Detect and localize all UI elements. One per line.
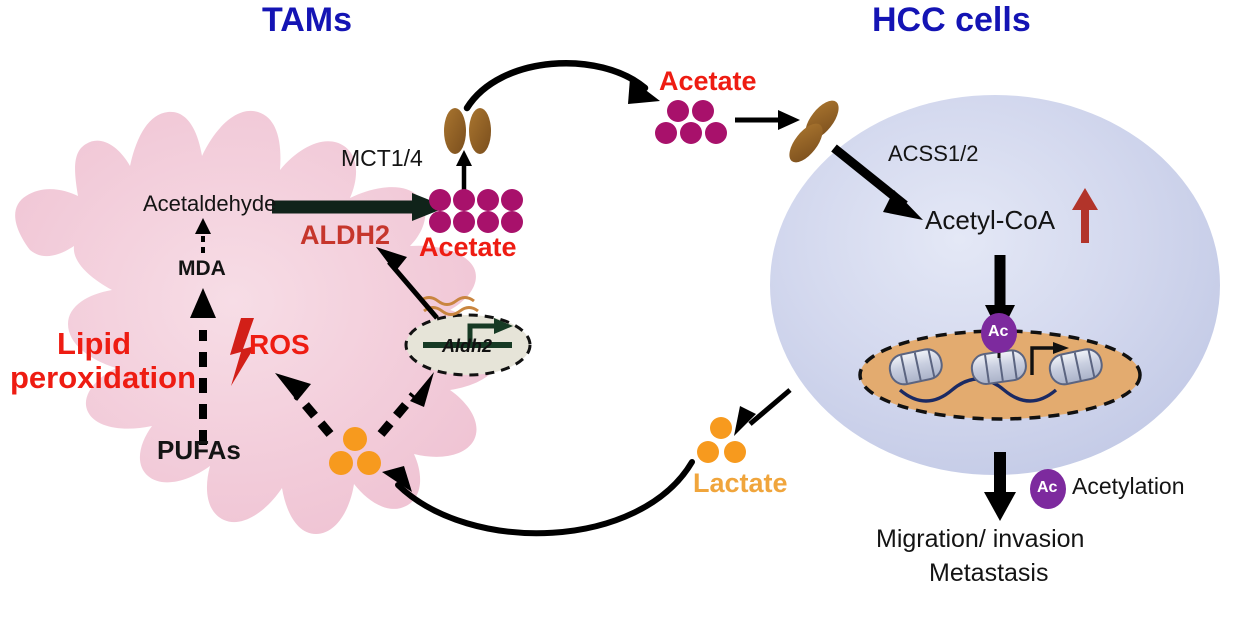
label-mct1-4: MCT1/4 — [341, 147, 423, 170]
pathway-figure: TAMs HCC cells Acetaldehyde ALDH2 MCT1/4… — [0, 0, 1250, 639]
label-acss1-2: ACSS1/2 — [888, 143, 979, 165]
acetate-dots-intracellular — [429, 189, 523, 233]
label-aldh2-enzyme: ALDH2 — [300, 222, 390, 249]
label-pufas: PUFAs — [157, 437, 241, 463]
acetate-dots-extracellular — [655, 100, 727, 144]
label-acetyl-coa: Acetyl-CoA — [925, 207, 1055, 233]
acetate-uptake-arrow — [735, 110, 800, 130]
acetate-export-curved-arrow — [467, 63, 660, 108]
hcc-to-lactate-arrow — [734, 390, 790, 436]
label-lactate: Lactate — [693, 470, 788, 497]
label-lipid-peroxidation-line2: peroxidation — [10, 362, 196, 393]
label-ros: ROS — [249, 331, 310, 359]
page-title-tams: TAMs — [262, 3, 352, 37]
label-mda: MDA — [178, 258, 226, 279]
label-outcome-line2: Metastasis — [929, 561, 1048, 586]
label-acetate-extracellular: Acetate — [659, 68, 757, 95]
histone-ac-label: Ac — [988, 324, 1008, 340]
label-lipid-peroxidation-line1: Lipid — [57, 328, 131, 359]
label-acetaldehyde: Acetaldehyde — [143, 193, 276, 215]
label-acetate-intracellular: Acetate — [419, 234, 517, 261]
page-title-hcc: HCC cells — [872, 3, 1031, 37]
lactate-uptake-curved-arrow — [382, 462, 692, 533]
legend-acetylation-label: Acetylation — [1072, 475, 1185, 498]
label-aldh2-gene: Aldh2 — [442, 337, 492, 355]
legend-ac-badge-label: Ac — [1037, 480, 1057, 496]
label-outcome-line1: Migration/ invasion — [876, 527, 1084, 552]
mct1-4-transporter-icon — [444, 108, 491, 154]
